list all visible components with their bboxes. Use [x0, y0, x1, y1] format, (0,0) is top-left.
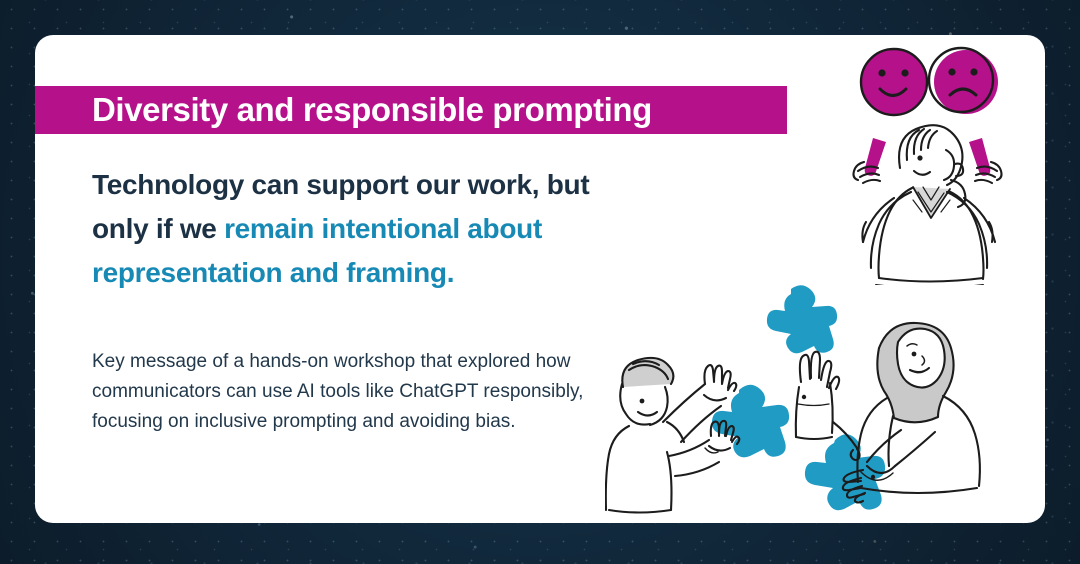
sad-face-sign [934, 50, 998, 176]
subtitle-statement: Technology can support our work, but onl… [92, 163, 652, 295]
content-card: Diversity and responsible prompting Tech… [35, 35, 1045, 523]
page-title: Diversity and responsible prompting [92, 91, 652, 129]
title-banner: Diversity and responsible prompting [35, 86, 787, 134]
puzzle-piece-top [767, 285, 837, 353]
happy-face-sign [861, 49, 927, 176]
sweater-neckline [913, 187, 950, 218]
left-arm [854, 162, 912, 268]
people-assembling-puzzle-illustration [605, 270, 1025, 523]
person-left [606, 358, 739, 513]
body-paragraph: Key message of a hands-on workshop that … [92, 347, 637, 437]
puzzle-piece-bottom [805, 434, 885, 510]
person-holding-emoji-signs-illustration [810, 40, 1045, 285]
slide-canvas: Diversity and responsible prompting Tech… [0, 0, 1080, 564]
